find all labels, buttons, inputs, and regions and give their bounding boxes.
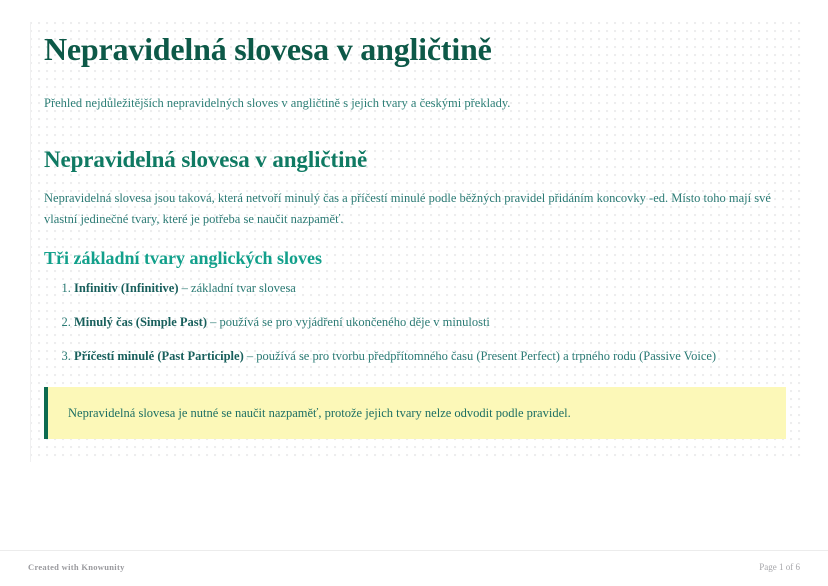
page-footer: Created with Knowunity Page 1 of 6 — [0, 550, 828, 586]
document-subtitle: Přehled nejdůležitějších nepravidelných … — [44, 94, 788, 112]
highlight-callout: Nepravidelná slovesa je nutné se naučit … — [44, 387, 786, 439]
list-item-separator: – — [244, 349, 257, 363]
list-item: Příčestí minulé (Past Participle) – použ… — [74, 347, 788, 366]
page-title: Nepravidelná slovesa v angličtině — [44, 30, 788, 68]
section-subheading: Tři základní tvary anglických sloves — [44, 247, 788, 270]
verb-forms-list: Infinitiv (Infinitive) – základní tvar s… — [44, 279, 788, 365]
left-gutter-rule — [30, 22, 31, 462]
callout-text: Nepravidelná slovesa je nutné se naučit … — [48, 390, 589, 437]
document-page: Nepravidelná slovesa v angličtině Přehle… — [0, 0, 828, 586]
list-item-term: Infinitiv (Infinitive) — [74, 281, 179, 295]
list-item: Infinitiv (Infinitive) – základní tvar s… — [74, 279, 788, 298]
list-item-description: používá se pro vyjádření ukončeného děje… — [219, 315, 489, 329]
section-paragraph: Nepravidelná slovesa jsou taková, která … — [44, 188, 786, 229]
footer-credit: Created with Knowunity — [28, 562, 125, 572]
list-item-term: Příčestí minulé (Past Participle) — [74, 349, 244, 363]
footer-pagination: Page 1 of 6 — [759, 562, 800, 572]
list-item-term: Minulý čas (Simple Past) — [74, 315, 207, 329]
list-item: Minulý čas (Simple Past) – používá se pr… — [74, 313, 788, 332]
list-item-separator: – — [207, 315, 220, 329]
list-item-separator: – — [179, 281, 192, 295]
list-item-description: používá se pro tvorbu předpřítomného čas… — [256, 349, 716, 363]
section-heading: Nepravidelná slovesa v angličtině — [44, 146, 788, 175]
document-content: Nepravidelná slovesa v angličtině Přehle… — [44, 30, 788, 439]
list-item-description: základní tvar slovesa — [191, 281, 296, 295]
